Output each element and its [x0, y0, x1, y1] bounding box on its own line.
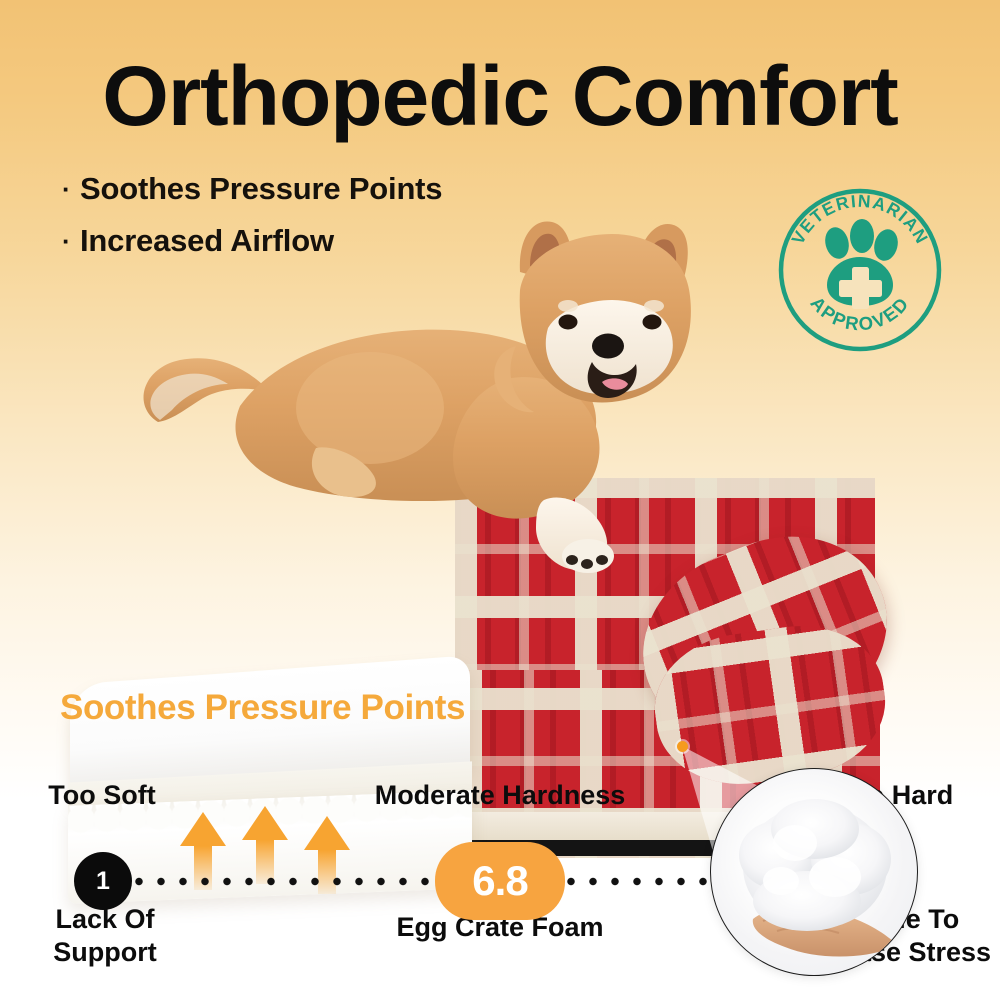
scale-node-value: 6.8 — [435, 842, 565, 920]
product-photo — [0, 200, 1000, 660]
scale-dotted-line-left — [128, 877, 440, 886]
scale-left-bottom-label-line2: Support — [0, 936, 210, 969]
page-title: Orthopedic Comfort — [0, 50, 1000, 142]
callout-dot-icon — [677, 741, 688, 752]
fiber-fill-inset-photo — [710, 768, 918, 976]
infographic-root: Orthopedic Comfort · Soothes Pressure Po… — [0, 0, 1000, 1000]
cutaway-caption: Soothes Pressure Points — [60, 688, 465, 728]
scale-left-top-label: Too Soft — [0, 780, 210, 811]
scale-node-min: 1 — [74, 852, 132, 910]
